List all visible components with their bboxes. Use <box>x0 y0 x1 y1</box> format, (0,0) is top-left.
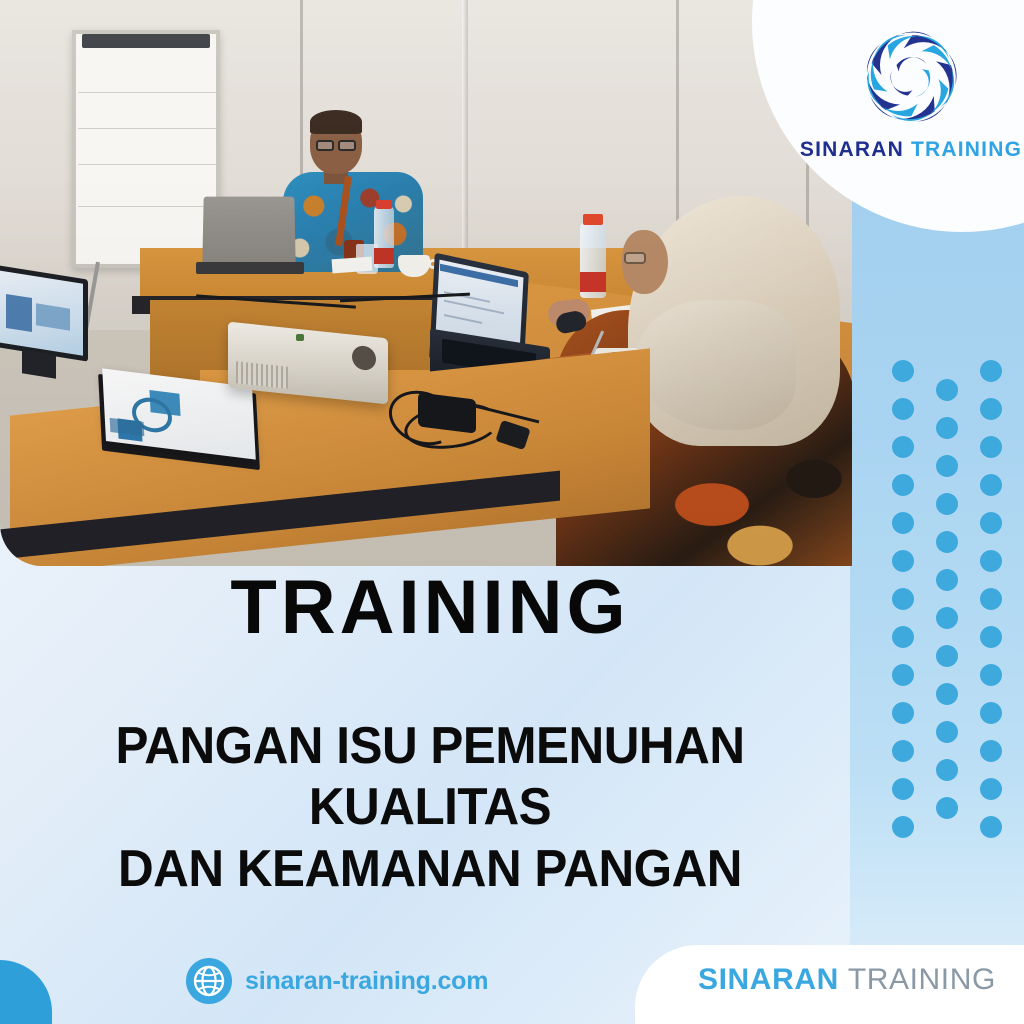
power-adapter <box>418 392 476 433</box>
poster-subtitle: PANGAN ISU PEMENUHAN KUALITAS DAN KEAMAN… <box>22 716 839 900</box>
decorative-dot <box>936 645 958 667</box>
decorative-dot <box>936 493 958 515</box>
flip-chart-board <box>72 30 220 268</box>
decorative-dot <box>980 626 1002 648</box>
footer-brand-secondary: TRAINING <box>848 963 996 996</box>
decorative-dot <box>892 512 914 534</box>
decorative-dot <box>980 398 1002 420</box>
decorative-dot <box>892 816 914 838</box>
decorative-dot <box>892 474 914 496</box>
woman-glasses <box>624 252 646 264</box>
website-url: sinaran-training.com <box>245 967 488 996</box>
dot-pattern-decoration <box>892 360 1002 830</box>
flip-chart-clip <box>82 34 210 48</box>
logo-word-secondary: TRAINING <box>911 138 1022 161</box>
monitor-stand <box>22 349 56 378</box>
hero-photo <box>0 0 852 566</box>
footer-corner-shape <box>0 960 52 1024</box>
decorative-dot <box>892 588 914 610</box>
decorative-dot <box>980 550 1002 572</box>
decorative-dot <box>980 740 1002 762</box>
globe-icon <box>186 958 232 1004</box>
logo-word-primary: SINARAN <box>800 138 904 161</box>
decorative-dot <box>892 778 914 800</box>
decorative-dot <box>980 512 1002 534</box>
water-bottle-label <box>580 272 606 292</box>
water-bottle-cap <box>376 200 392 209</box>
footer-brand-primary: SINARAN <box>698 963 839 996</box>
decorative-dot <box>892 436 914 458</box>
swirl-spiral-logo-icon <box>852 18 970 136</box>
footer-brand-lockup: SINARAN TRAINING <box>698 963 996 997</box>
decorative-dot <box>892 550 914 572</box>
flip-chart-line <box>78 128 216 129</box>
decorative-dot <box>980 778 1002 800</box>
decorative-dot <box>892 740 914 762</box>
decorative-dot <box>980 360 1002 382</box>
decorative-dot <box>980 474 1002 496</box>
flip-chart-line <box>78 206 216 207</box>
poster-canvas: SINARAN TRAINING TRAINING PANGAN ISU PEM… <box>0 0 1024 1024</box>
flip-chart-line <box>78 92 216 93</box>
decorative-dot <box>936 569 958 591</box>
laptop-silver-base <box>196 262 304 274</box>
decorative-dot <box>936 417 958 439</box>
laptop-silver-lid <box>202 197 295 267</box>
subtitle-line-2: DAN KEAMANAN PANGAN <box>22 839 839 900</box>
decorative-dot <box>980 436 1002 458</box>
decorative-dot <box>936 531 958 553</box>
man-glasses-left <box>316 140 334 151</box>
website-link[interactable]: sinaran-training.com <box>186 958 488 1004</box>
decorative-dot <box>892 398 914 420</box>
projector-indicator <box>296 334 304 341</box>
decorative-dot <box>892 360 914 382</box>
logo-wordmark: SINARAN TRAINING <box>800 138 1022 162</box>
decorative-dot <box>980 588 1002 610</box>
flip-chart-line <box>78 164 216 165</box>
decorative-dot <box>936 683 958 705</box>
decorative-dot <box>892 702 914 724</box>
decorative-dot <box>980 702 1002 724</box>
water-bottle-label <box>374 248 394 264</box>
decorative-dot <box>936 721 958 743</box>
water-bottle-cap <box>583 214 603 225</box>
decorative-dot <box>936 759 958 781</box>
poster-title: TRAINING <box>0 570 860 646</box>
headline-block: TRAINING PANGAN ISU PEMENUHAN KUALITAS D… <box>0 570 860 900</box>
decorative-dot <box>936 607 958 629</box>
decorative-dot <box>892 626 914 648</box>
decorative-dot <box>936 379 958 401</box>
man-glasses-right <box>338 140 356 151</box>
monitor-content-shape <box>6 294 32 332</box>
decorative-dot <box>936 797 958 819</box>
decorative-dot <box>936 455 958 477</box>
paper-note <box>332 257 373 274</box>
decorative-dot <box>980 816 1002 838</box>
subtitle-line-1: PANGAN ISU PEMENUHAN KUALITAS <box>22 716 839 839</box>
man-hair <box>310 110 362 134</box>
decorative-dot <box>980 664 1002 686</box>
decorative-dot <box>892 664 914 686</box>
brand-logo: SINARAN TRAINING <box>806 18 1016 182</box>
